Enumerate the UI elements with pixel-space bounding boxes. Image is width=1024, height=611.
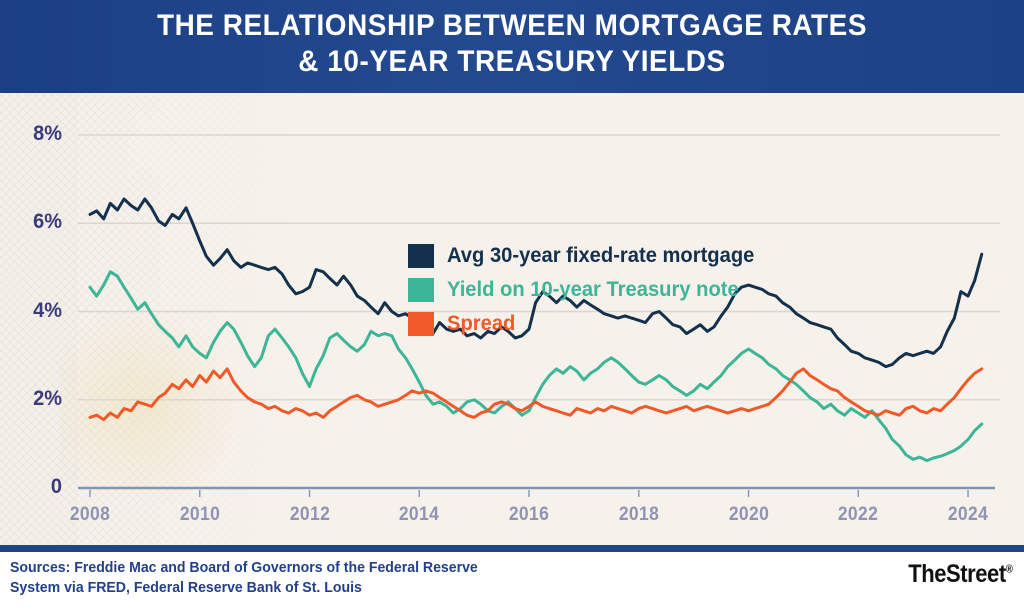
x-axis-label: 2016 (492, 504, 566, 526)
legend-label: Avg 30-year fixed-rate mortgage (447, 244, 754, 268)
x-axis-label: 2022 (821, 504, 895, 526)
footer: Sources: Freddie Mac and Board of Govern… (0, 552, 1024, 611)
source-note-line-2: System via FRED, Federal Reserve Bank of… (10, 578, 478, 598)
x-axis-label: 2018 (602, 504, 676, 526)
legend-item: Spread (408, 307, 767, 341)
x-axis-label: 2008 (53, 504, 127, 526)
x-axis-label: 2012 (273, 504, 347, 526)
y-axis-label: 2% (7, 387, 62, 411)
x-axis-label: 2024 (931, 504, 1005, 526)
legend-swatch-icon (408, 312, 434, 336)
legend-item: Avg 30-year fixed-rate mortgage (408, 239, 767, 273)
x-axis-label: 2014 (382, 504, 456, 526)
trademark-symbol: ® (1005, 564, 1012, 576)
header-bar: THE RELATIONSHIP BETWEEN MORTGAGE RATES … (0, 0, 1024, 93)
infographic-chart-page: THE RELATIONSHIP BETWEEN MORTGAGE RATES … (0, 0, 1024, 611)
x-axis-ticks (90, 490, 968, 497)
x-axis-label: 2010 (163, 504, 237, 526)
legend-label: Yield on 10-year Treasury note (447, 278, 739, 302)
page-title-line-1: THE RELATIONSHIP BETWEEN MORTGAGE RATES (36, 8, 988, 44)
page-title-line-2: & 10-YEAR TREASURY YIELDS (36, 44, 988, 80)
y-axis-label: 4% (7, 299, 62, 323)
y-axis-label: 6% (7, 210, 62, 234)
y-axis-label: 8% (7, 122, 62, 146)
x-axis-label: 2020 (712, 504, 786, 526)
legend-swatch-icon (408, 244, 434, 268)
source-note: Sources: Freddie Mac and Board of Govern… (10, 558, 478, 598)
footer-divider (0, 545, 1024, 552)
legend-label: Spread (447, 312, 515, 336)
page-title: THE RELATIONSHIP BETWEEN MORTGAGE RATES … (36, 8, 988, 80)
source-note-line-1: Sources: Freddie Mac and Board of Govern… (10, 558, 478, 578)
thestreet-logo-text: TheStreet (908, 560, 1006, 588)
legend-swatch-icon (408, 278, 434, 302)
chart-legend: Avg 30-year fixed-rate mortgageYield on … (408, 239, 767, 341)
thestreet-logo: TheStreet® (908, 560, 1012, 589)
chart-area: 8%6%4%2%0 200820102012201420162018202020… (0, 93, 1024, 545)
y-axis-label: 0 (7, 475, 62, 499)
legend-item: Yield on 10-year Treasury note (408, 273, 767, 307)
